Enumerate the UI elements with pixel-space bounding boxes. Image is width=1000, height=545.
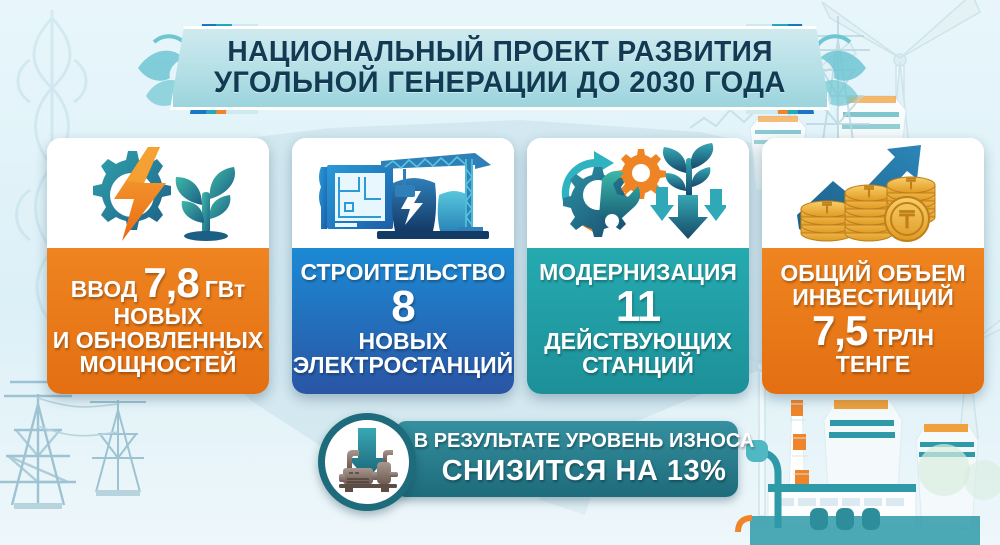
card4-body: ОБЩИЙ ОБЪЕМ ИНВЕСТИЦИЙ 7,5 ТРЛН ТЕНГЕ <box>762 248 984 394</box>
card1-unit: ГВт <box>205 278 246 301</box>
svg-text:₸: ₸ <box>821 200 832 217</box>
blueprint-crane-powerplant-icon <box>315 143 491 243</box>
card4-line1: ОБЩИЙ ОБЪЕМ <box>780 262 965 285</box>
svg-text:₸: ₸ <box>905 176 916 193</box>
card1-headline: ВВОД 7,8 ГВт <box>71 262 246 304</box>
result-plate: В РЕЗУЛЬТАТЕ УРОВЕНЬ ИЗНОСА СНИЗИТСЯ НА … <box>396 421 738 497</box>
svg-text:₸: ₸ <box>898 207 915 234</box>
gears-wrench-leaf-arrows-icon <box>550 143 726 243</box>
title-plate: НАЦИОНАЛЬНЫЙ ПРОЕКТ РАЗВИТИЯ УГОЛЬНОЙ ГЕ… <box>170 26 830 110</box>
card3-value: 11 <box>616 285 661 329</box>
card4-value: 7,5 <box>812 310 867 352</box>
card-investments[interactable]: ₸ ₸ <box>762 138 984 394</box>
result-line-2: СНИЗИТСЯ НА 13% <box>442 455 727 488</box>
card1-line4: МОЩНОСТЕЙ <box>80 353 237 376</box>
svg-text:₸: ₸ <box>863 184 874 201</box>
card4-amount: 7,5 ТРЛН <box>812 310 934 352</box>
card4-line3: ТЕНГЕ <box>836 353 910 376</box>
gear-lightning-plant-icon <box>74 143 242 243</box>
title-line-1: НАЦИОНАЛЬНЫЙ ПРОЕКТ РАЗВИТИЯ <box>227 37 772 67</box>
card2-line3: ЭЛЕКТРОСТАНЦИЙ <box>293 354 513 377</box>
card4-line2: ИНВЕСТИЦИЙ <box>792 286 954 309</box>
card-new-capacity[interactable]: ВВОД 7,8 ГВт НОВЫХ И ОБНОВЛЕННЫХ МОЩНОСТ… <box>47 138 269 394</box>
card2-icon-area <box>292 138 514 248</box>
card3-line1: МОДЕРНИЗАЦИЯ <box>539 261 737 284</box>
card1-line3: И ОБНОВЛЕННЫХ <box>53 329 263 352</box>
coins-growth-arrow-tenge-icon: ₸ ₸ <box>785 141 961 245</box>
card3-icon-area <box>527 138 749 248</box>
card2-line1: СТРОИТЕЛЬСТВО <box>300 261 505 284</box>
result-icon-circle <box>318 413 416 511</box>
card3-body: МОДЕРНИЗАЦИЯ 11 ДЕЙСТВУЮЩИХ СТАНЦИЙ <box>527 248 749 394</box>
down-arrow-machinery-icon <box>329 424 405 500</box>
card4-icon-area: ₸ ₸ <box>762 138 984 248</box>
card1-line2: НОВЫХ <box>114 305 203 328</box>
card1-body: ВВОД 7,8 ГВт НОВЫХ И ОБНОВЛЕННЫХ МОЩНОСТ… <box>47 248 269 394</box>
card-new-plants[interactable]: СТРОИТЕЛЬСТВО 8 НОВЫХ ЭЛЕКТРОСТАНЦИЙ <box>292 138 514 394</box>
card1-icon-area <box>47 138 269 248</box>
card-modernization[interactable]: МОДЕРНИЗАЦИЯ 11 ДЕЙСТВУЮЩИХ СТАНЦИЙ <box>527 138 749 394</box>
card2-line2: НОВЫХ <box>359 330 448 353</box>
card2-value: 8 <box>391 285 414 329</box>
title-line-2: УГОЛЬНОЙ ГЕНЕРАЦИИ ДО 2030 ГОДА <box>214 67 786 99</box>
result-line-1: В РЕЗУЛЬТАТЕ УРОВЕНЬ ИЗНОСА <box>414 430 755 453</box>
title-banner: НАЦИОНАЛЬНЫЙ ПРОЕКТ РАЗВИТИЯ УГОЛЬНОЙ ГЕ… <box>0 16 1000 120</box>
stat-cards: ВВОД 7,8 ГВт НОВЫХ И ОБНОВЛЕННЫХ МОЩНОСТ… <box>0 138 1000 396</box>
card4-unit: ТРЛН <box>873 326 934 349</box>
card1-value: 7,8 <box>143 262 198 304</box>
card1-prefix: ВВОД <box>71 278 138 301</box>
card2-body: СТРОИТЕЛЬСТВО 8 НОВЫХ ЭЛЕКТРОСТАНЦИЙ <box>292 248 514 394</box>
card3-line2: ДЕЙСТВУЮЩИХ <box>544 330 731 353</box>
result-banner: В РЕЗУЛЬТАТЕ УРОВЕНЬ ИЗНОСА СНИЗИТСЯ НА … <box>318 413 738 505</box>
card3-line3: СТАНЦИЙ <box>582 354 694 377</box>
